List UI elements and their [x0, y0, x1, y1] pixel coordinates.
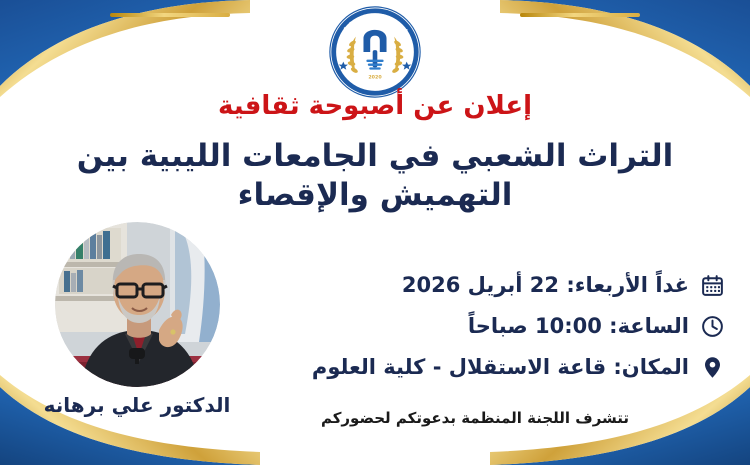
detail-row-time: الساعة: 10:00 صباحاً	[256, 309, 726, 343]
speaker-portrait-image	[55, 222, 220, 387]
event-poster: جامعة وادي الشاطئ WADI AL SHATI UNIVERSI…	[0, 0, 750, 465]
detail-text-date: غداً الأربعاء: 22 أبريل 2026	[402, 273, 689, 297]
poster-title-line1: التراث الشعبي في الجامعات الليبية بين	[20, 137, 730, 176]
clock-icon	[699, 313, 726, 340]
university-logo: جامعة وادي الشاطئ WADI AL SHATI UNIVERSI…	[327, 4, 423, 100]
invitation-text: تتشرف اللجنة المنظمة بدعوتكم لحضوركم	[240, 409, 710, 427]
gold-rule-left	[110, 13, 230, 17]
event-details-list: غداً الأربعاء: 22 أبريل 2026 الساعة: 10:…	[256, 268, 726, 391]
detail-text-time: الساعة: 10:00 صباحاً	[468, 314, 689, 338]
poster-title: التراث الشعبي في الجامعات الليبية بين ال…	[20, 137, 730, 215]
detail-row-date: غداً الأربعاء: 22 أبريل 2026	[256, 268, 726, 302]
speaker-photo	[55, 222, 220, 387]
calendar-icon	[699, 272, 726, 299]
university-crest-icon: جامعة وادي الشاطئ WADI AL SHATI UNIVERSI…	[327, 4, 423, 100]
detail-text-venue: المكان: قاعة الاستقلال - كلية العلوم	[312, 355, 689, 379]
poster-title-line2: التهميش والإقصاء	[20, 176, 730, 215]
speaker-name: الدكتور علي برهانه	[22, 393, 252, 417]
gold-rule-right	[520, 13, 640, 17]
poster-kicker: إعلان عن أصبوحة ثقافية	[0, 92, 750, 121]
location-pin-icon	[699, 354, 726, 381]
detail-row-venue: المكان: قاعة الاستقلال - كلية العلوم	[256, 350, 726, 384]
speaker-block: الدكتور علي برهانه	[22, 222, 252, 417]
svg-text:2020: 2020	[368, 74, 382, 80]
